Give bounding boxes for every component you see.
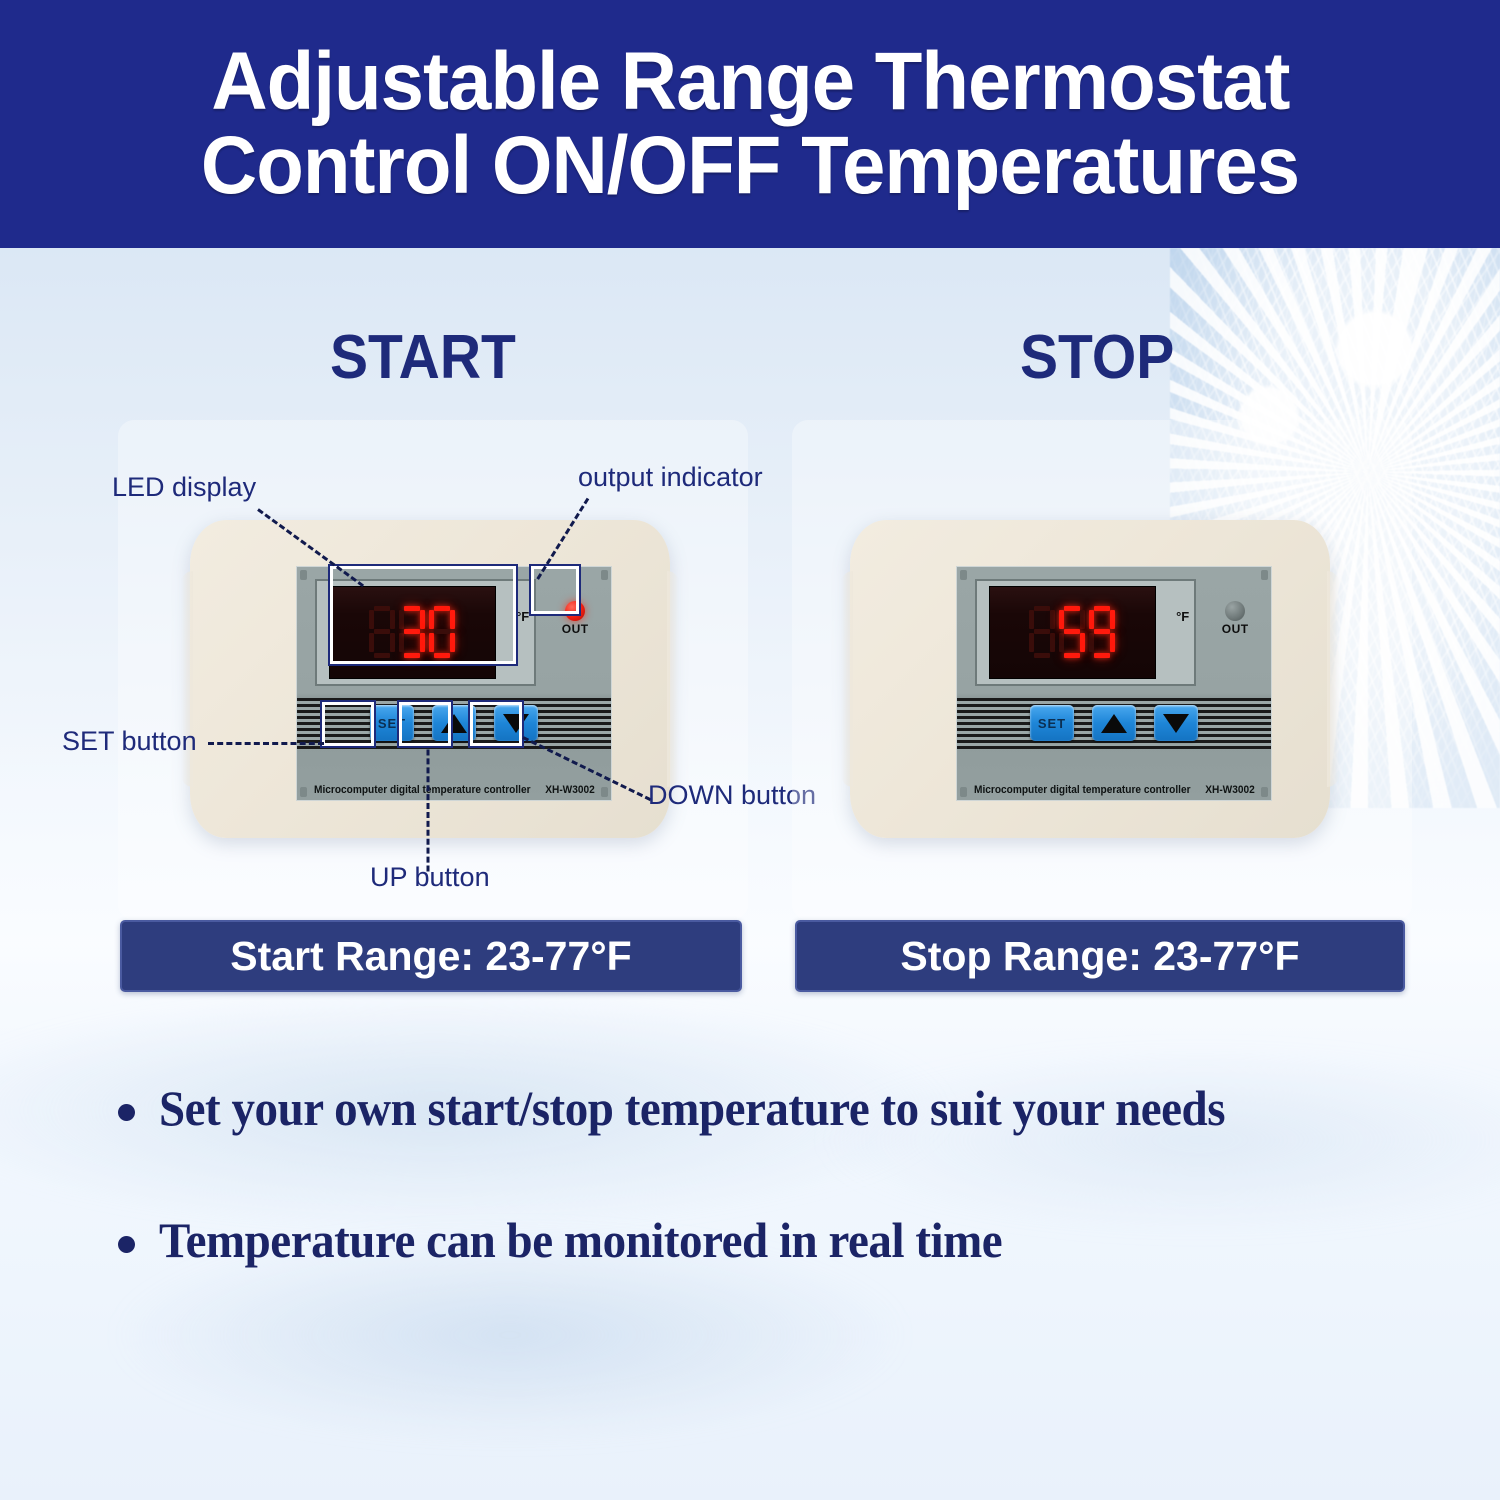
- led-digit: [399, 606, 425, 658]
- callout-output-indicator: output indicator: [578, 462, 763, 493]
- header-title-line-2: Control ON/OFF Temperatures: [201, 124, 1299, 208]
- screw-icon: [300, 570, 307, 580]
- led-segment: [374, 653, 390, 658]
- button-strip: SET: [957, 698, 1272, 749]
- led-segment: [1080, 610, 1085, 629]
- screw-icon: [1261, 787, 1268, 797]
- led-segment: [420, 633, 425, 652]
- led-segment: [1034, 629, 1050, 634]
- screw-icon: [960, 787, 967, 797]
- up-button[interactable]: [1092, 705, 1136, 741]
- led-segment: [1094, 653, 1110, 658]
- device-model-number: XH-W3002: [545, 784, 594, 796]
- bullet-dot-icon: [118, 1236, 135, 1253]
- led-segment: [399, 610, 404, 629]
- led-segment: [1059, 633, 1064, 652]
- screw-icon: [960, 570, 967, 580]
- led-segment: [374, 606, 390, 611]
- led-segment: [1029, 610, 1034, 629]
- section-title-stop: STOP: [1020, 322, 1174, 393]
- led-segment: [450, 610, 455, 629]
- led-segment: [390, 610, 395, 629]
- led-segment: [369, 633, 374, 652]
- bullet-dot-icon: [118, 1104, 135, 1121]
- list-item: Temperature can be monitored in real tim…: [118, 1212, 1448, 1268]
- led-segment: [1034, 606, 1050, 611]
- led-segment: [369, 610, 374, 629]
- led-digit: [1059, 606, 1085, 658]
- screw-icon: [300, 787, 307, 797]
- device-model-row: Microcomputer digital temperature contro…: [309, 784, 599, 796]
- up-button[interactable]: [432, 705, 476, 741]
- led-digit: [429, 606, 455, 658]
- callout-led-display: LED display: [112, 472, 256, 503]
- led-screen: [989, 586, 1156, 678]
- led-screen: [329, 586, 496, 678]
- output-lamp-icon: [565, 601, 585, 621]
- device-model-row: Microcomputer digital temperature contro…: [969, 784, 1259, 796]
- triangle-down-icon: [503, 714, 529, 733]
- led-segment: [434, 653, 450, 658]
- down-button[interactable]: [494, 705, 538, 741]
- output-indicator: OUT: [548, 581, 602, 656]
- screw-icon: [601, 787, 608, 797]
- led-segment: [390, 633, 395, 652]
- device-description-text: Microcomputer digital temperature contro…: [974, 784, 1191, 796]
- led-segment: [1064, 606, 1080, 611]
- output-indicator-label: OUT: [1222, 622, 1249, 636]
- led-segment: [1080, 633, 1085, 652]
- set-button[interactable]: SET: [370, 705, 414, 741]
- thermostat-device-start: °F OUT SET Microcomputer digital tempera…: [190, 520, 670, 838]
- led-segment: [404, 629, 420, 634]
- led-segment: [404, 606, 420, 611]
- led-segment: [1050, 610, 1055, 629]
- led-segment: [429, 610, 434, 629]
- thermostat-device-stop: °F OUT SET Microcomputer digital tempera…: [850, 520, 1330, 838]
- device-model-number: XH-W3002: [1205, 784, 1254, 796]
- led-digit: [369, 606, 395, 658]
- header-banner: Adjustable Range Thermostat Control ON/O…: [0, 0, 1500, 248]
- led-segment: [1089, 610, 1094, 629]
- feature-bullet-list: Set your own start/stop temperature to s…: [118, 1080, 1448, 1268]
- down-button[interactable]: [1154, 705, 1198, 741]
- led-segment: [404, 653, 420, 658]
- led-segment: [1110, 633, 1115, 652]
- triangle-up-icon: [1101, 714, 1127, 733]
- bullet-text: Temperature can be monitored in real tim…: [159, 1212, 1002, 1268]
- led-segment: [399, 633, 404, 652]
- leader-line-up-button: [427, 750, 430, 872]
- device-description-text: Microcomputer digital temperature contro…: [314, 784, 531, 796]
- callout-up-button: UP button: [370, 862, 490, 893]
- led-segment: [1064, 653, 1080, 658]
- unit-label: °F: [1176, 609, 1189, 624]
- led-segment: [434, 606, 450, 611]
- led-segment: [1034, 653, 1050, 658]
- callout-set-button: SET button: [62, 726, 197, 757]
- led-segment: [1089, 633, 1094, 652]
- led-segment: [434, 629, 450, 634]
- unit-label: °F: [516, 609, 529, 624]
- led-segment: [1094, 629, 1110, 634]
- output-indicator: OUT: [1208, 581, 1262, 656]
- start-range-banner: Start Range: 23-77°F: [120, 920, 742, 992]
- screw-icon: [1261, 570, 1268, 580]
- leader-line-set-button: [208, 742, 324, 745]
- stop-range-banner: Stop Range: 23-77°F: [795, 920, 1405, 992]
- led-segment: [1059, 610, 1064, 629]
- section-title-start: START: [330, 322, 516, 393]
- led-segment: [1050, 633, 1055, 652]
- output-lamp-icon: [1225, 601, 1245, 621]
- led-segment: [1094, 606, 1110, 611]
- led-digit: [1089, 606, 1115, 658]
- bullet-text: Set your own start/stop temperature to s…: [159, 1080, 1225, 1136]
- triangle-down-icon: [1163, 714, 1189, 733]
- led-segment: [1064, 629, 1080, 634]
- device-faceplate: °F OUT SET Microcomputer digital tempera…: [296, 566, 613, 801]
- led-digit: [1029, 606, 1055, 658]
- device-faceplate: °F OUT SET Microcomputer digital tempera…: [956, 566, 1273, 801]
- led-segment: [429, 633, 434, 652]
- led-segment: [1110, 610, 1115, 629]
- led-display: °F: [315, 579, 535, 686]
- header-title-line-1: Adjustable Range Thermostat: [211, 40, 1289, 124]
- output-indicator-label: OUT: [562, 622, 589, 636]
- led-segment: [374, 629, 390, 634]
- list-item: Set your own start/stop temperature to s…: [118, 1080, 1448, 1136]
- led-segment: [1029, 633, 1034, 652]
- button-strip: SET: [297, 698, 612, 749]
- screw-icon: [601, 570, 608, 580]
- set-button[interactable]: SET: [1030, 705, 1074, 741]
- callout-down-button: DOWN button: [648, 780, 816, 811]
- led-display: °F: [975, 579, 1195, 686]
- led-segment: [450, 633, 455, 652]
- led-segment: [420, 610, 425, 629]
- triangle-up-icon: [441, 714, 467, 733]
